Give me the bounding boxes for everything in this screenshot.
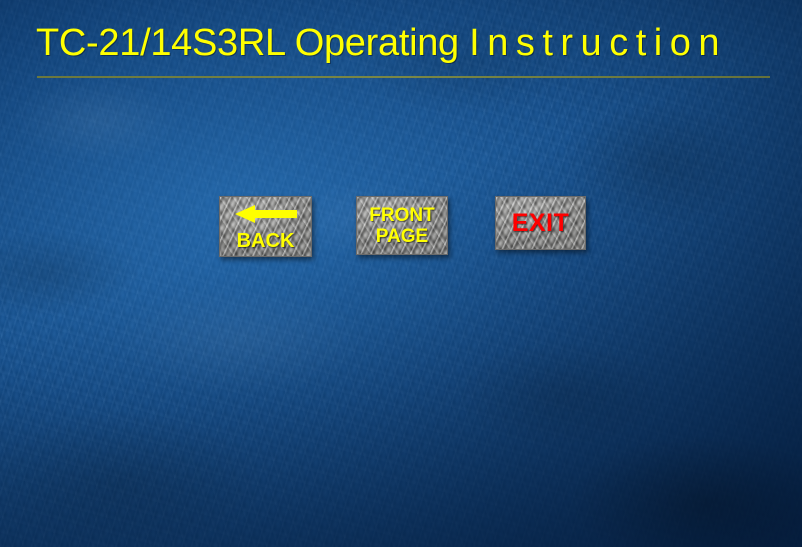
page-title-main: TC-21/14S3RL Operating bbox=[36, 22, 469, 64]
exit-button[interactable]: EXIT bbox=[495, 196, 586, 250]
background-texture-overlay bbox=[0, 0, 802, 547]
title-divider bbox=[37, 76, 770, 78]
page-title-spaced: Instruction bbox=[469, 22, 727, 64]
back-button[interactable]: BACK bbox=[219, 196, 312, 257]
front-page-button-label-line1: FRONT bbox=[369, 205, 434, 226]
navigation-button-bar: BACK FRONT PAGE EXIT bbox=[0, 196, 802, 266]
front-page-button[interactable]: FRONT PAGE bbox=[356, 196, 448, 255]
presentation-slide: TC-21/14S3RL Operating Instruction BACK … bbox=[0, 0, 802, 547]
exit-button-label: EXIT bbox=[512, 210, 570, 237]
front-page-button-label-line2: PAGE bbox=[376, 226, 428, 247]
back-button-label: BACK bbox=[237, 230, 295, 252]
left-arrow-icon bbox=[235, 204, 297, 224]
page-title: TC-21/14S3RL Operating Instruction bbox=[36, 21, 727, 65]
